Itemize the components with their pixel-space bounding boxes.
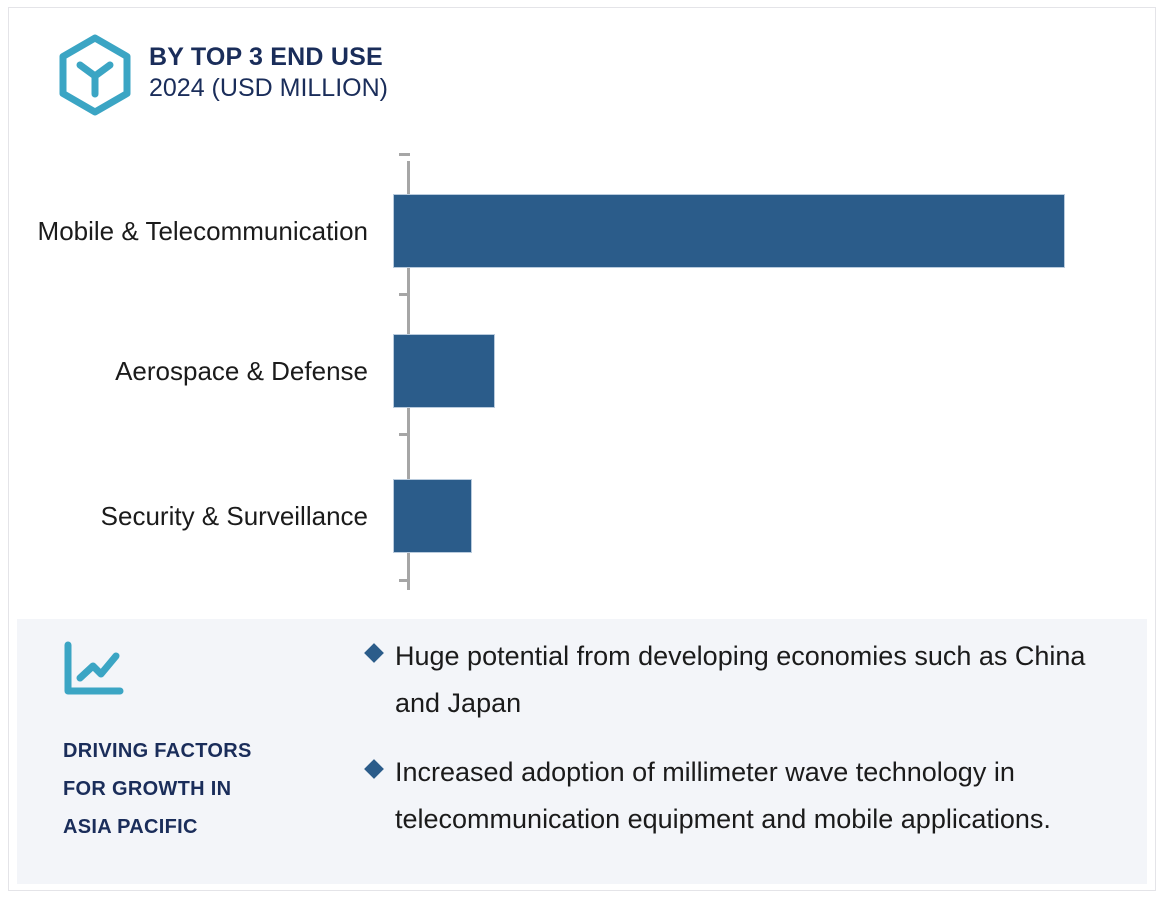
bar-security-surveillance[interactable] xyxy=(393,479,472,553)
chart-row: Security & Surveillance xyxy=(9,446,1156,586)
axis-tick xyxy=(399,153,410,156)
driving-factors-panel: DRIVING FACTORS FOR GROWTH IN ASIA PACIF… xyxy=(17,619,1147,884)
bar-track xyxy=(384,446,1156,586)
category-label: Mobile & Telecommunication xyxy=(9,211,384,251)
line-chart-icon xyxy=(63,641,363,697)
panel-heading: DRIVING FACTORS FOR GROWTH IN ASIA PACIF… xyxy=(63,732,363,846)
bar-chart: Mobile & Telecommunication Aerospace & D… xyxy=(9,153,1156,603)
panel-heading-line: DRIVING FACTORS xyxy=(63,732,363,770)
page-title: BY TOP 3 END USE xyxy=(149,42,388,72)
diamond-bullet-icon xyxy=(364,643,384,663)
panel-heading-line: ASIA PACIFIC xyxy=(63,808,363,846)
hexagon-y-logo-icon xyxy=(53,33,137,117)
list-item: Huge potential from developing economies… xyxy=(367,633,1137,727)
bullet-text: Huge potential from developing economies… xyxy=(395,633,1137,727)
diamond-bullet-icon xyxy=(364,759,384,779)
header-text-group: BY TOP 3 END USE 2024 (USD MILLION) xyxy=(149,33,388,104)
list-item: Increased adoption of millimeter wave te… xyxy=(367,749,1137,843)
page-subtitle: 2024 (USD MILLION) xyxy=(149,72,388,104)
bar-aerospace-defense[interactable] xyxy=(393,334,495,408)
bullet-list: Huge potential from developing economies… xyxy=(367,633,1137,865)
bar-mobile-telecommunication[interactable] xyxy=(393,194,1065,268)
chart-rows: Mobile & Telecommunication Aerospace & D… xyxy=(9,161,1156,590)
panel-left-column: DRIVING FACTORS FOR GROWTH IN ASIA PACIF… xyxy=(63,641,363,846)
bullet-text: Increased adoption of millimeter wave te… xyxy=(395,749,1137,843)
infographic-card: BY TOP 3 END USE 2024 (USD MILLION) Mobi… xyxy=(8,7,1156,891)
category-label: Security & Surveillance xyxy=(9,496,384,536)
chart-row: Aerospace & Defense xyxy=(9,301,1156,441)
header: BY TOP 3 END USE 2024 (USD MILLION) xyxy=(53,33,388,117)
chart-row: Mobile & Telecommunication xyxy=(9,161,1156,301)
bar-track xyxy=(384,301,1156,441)
panel-heading-line: FOR GROWTH IN xyxy=(63,770,363,808)
category-label: Aerospace & Defense xyxy=(9,351,384,391)
bar-track xyxy=(384,161,1156,301)
